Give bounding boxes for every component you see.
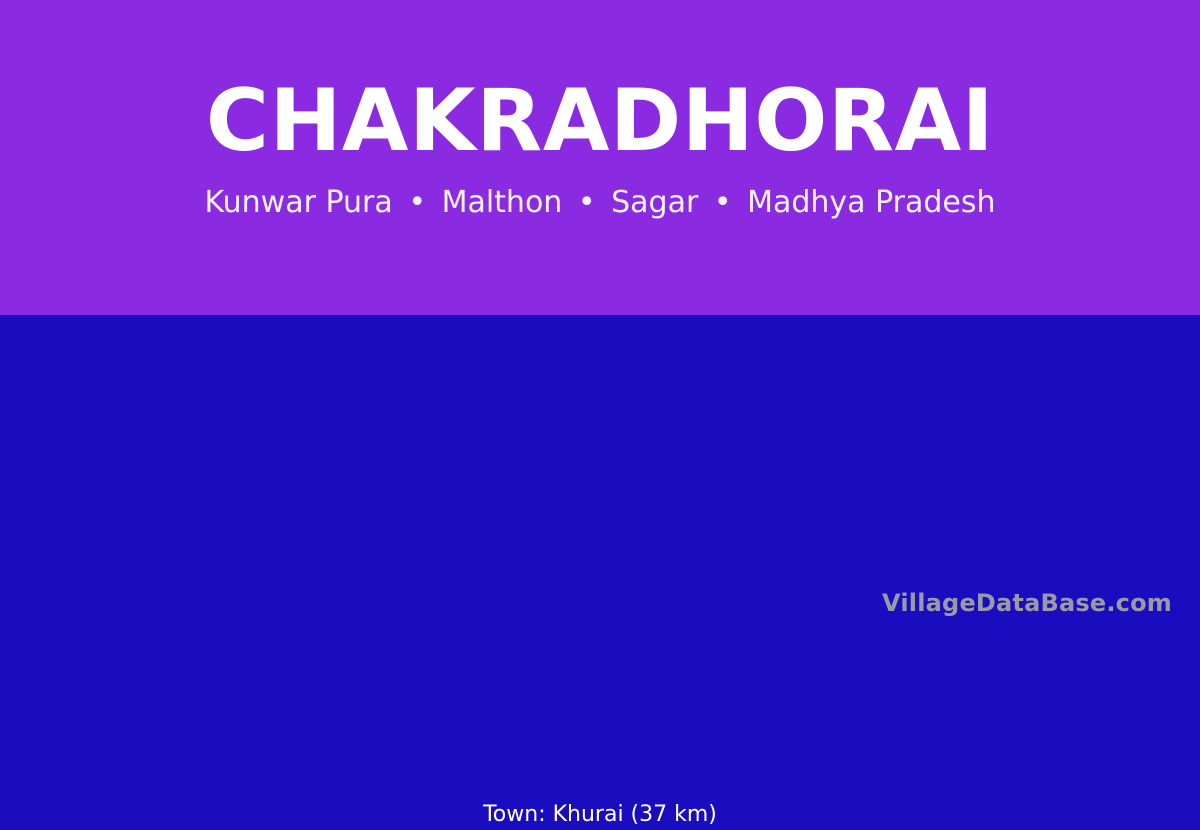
village-social-card: CHAKRADHORAI Kunwar Pura • Malthon • Sag…	[0, 0, 1200, 630]
nearest-town-label: Town: Khurai (37 km)	[0, 801, 1200, 830]
card-body: Town: Khurai (37 km) VillageDataBase.com	[0, 315, 1200, 630]
breadcrumb-item-district: Sagar	[611, 185, 698, 220]
breadcrumb-separator: •	[708, 185, 738, 220]
breadcrumb-separator: •	[402, 185, 432, 220]
page-title: CHAKRADHORAI	[206, 78, 994, 164]
header-banner: CHAKRADHORAI Kunwar Pura • Malthon • Sag…	[0, 0, 1200, 315]
breadcrumb-item-panchayat: Kunwar Pura	[204, 185, 392, 220]
site-watermark: VillageDataBase.com	[882, 589, 1172, 618]
breadcrumb-item-block: Malthon	[442, 185, 563, 220]
breadcrumb: Kunwar Pura • Malthon • Sagar • Madhya P…	[204, 186, 995, 221]
breadcrumb-separator: •	[572, 185, 602, 220]
breadcrumb-item-state: Madhya Pradesh	[747, 185, 995, 220]
